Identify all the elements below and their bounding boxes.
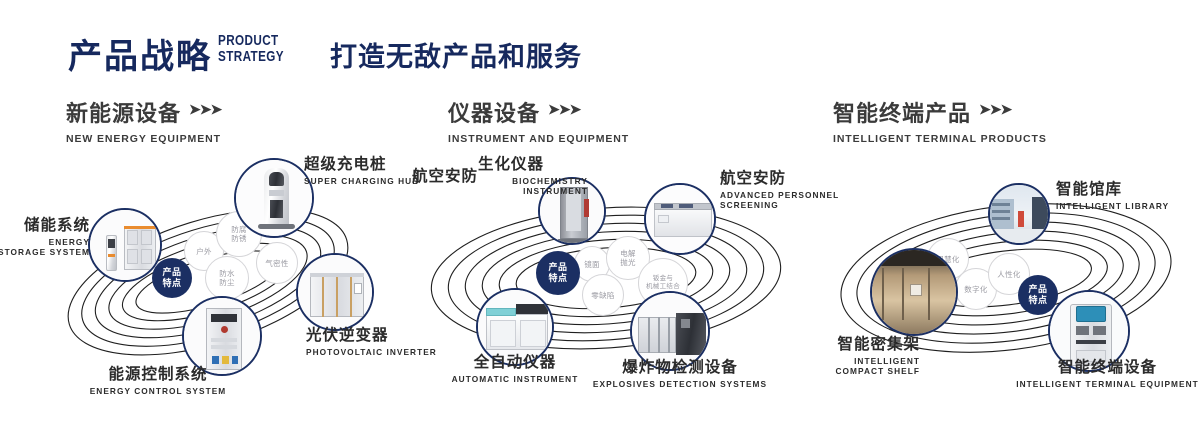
feature-bubble-label: 防水防尘 [219,269,235,287]
page-title: 产品战略 [68,29,212,78]
section-title-en: NEW ENERGY EQUIPMENT [66,133,221,145]
cluster-new-energy: 户外 防腐防锈 防水防尘 气密性 产品特点 [0,150,420,400]
node-photovoltaic-inverter[interactable] [296,253,374,331]
node-super-charging-hub[interactable] [234,158,314,238]
label-cn: 储能系统 [0,213,90,235]
section-title-cn: 仪器设备 [448,96,540,128]
page-title-en: PRODUCT STRATEGY [218,33,284,65]
label-cn: 生化仪器 [478,152,588,174]
section-heading-new-energy: 新能源设备➤➤➤ NEW ENERGY EQUIPMENT [66,96,221,145]
label-intelligent-library: 智能馆库 INTELLIGENT LIBRARY [1056,177,1200,211]
section-title-en: INTELLIGENT TERMINAL PRODUCTS [833,133,1047,145]
core-bubble-product-features: 产品特点 [536,251,580,295]
label-en: BIOCHEMISTRY INSTRUMENT [478,176,588,196]
label-intelligent-compact-shelf: 智能密集架 INTELLIGENT COMPACT SHELF [810,332,920,376]
node-intelligent-compact-shelf[interactable] [870,248,958,336]
node-intelligent-library[interactable] [988,183,1050,245]
section-title-cn: 智能终端产品 [833,96,971,128]
chevron-right-icon: ➤➤➤ [189,101,221,118]
section-heading-intelligent-terminal: 智能终端产品➤➤➤ INTELLIGENT TERMINAL PRODUCTS [833,96,1047,145]
feature-bubble-label: 气密性 [265,259,288,268]
cluster-instrument: 镜面 电解抛光 零缺陷 钣金与机械工结合 产品特点 [400,150,820,400]
label-en: ENERGY STORAGE SYSTEM [0,237,90,257]
cluster-intelligent-terminal: 智慧化 数字化 人性化 产品特点 [810,150,1200,400]
section-heading-instrument: 仪器设备➤➤➤ INSTRUMENT AND EQUIPMENT [448,96,629,145]
feature-bubble: 零缺陷 [582,274,624,316]
section-title-cn: 新能源设备 [66,96,181,128]
node-advanced-personnel-screening[interactable] [644,183,716,255]
page-title-en-line2: STRATEGY [218,49,284,65]
label-biochemistry-instrument: 生化仪器 BIOCHEMISTRY INSTRUMENT [478,152,588,196]
feature-bubble-label: 电解抛光 [620,249,636,267]
label-cn: 智能馆库 [1056,177,1200,199]
label-energy-control-system: 能源控制系统 ENERGY CONTROL SYSTEM [58,362,258,396]
core-bubble-label: 产品特点 [1028,284,1047,306]
feature-bubble-label: 镜面 [584,260,600,269]
feature-bubble: 气密性 [256,242,298,284]
chevron-right-icon: ➤➤➤ [548,101,580,118]
section-title-en: INSTRUMENT AND EQUIPMENT [448,133,629,145]
feature-bubble-label: 户外 [196,247,212,256]
label-en: ENERGY CONTROL SYSTEM [58,386,258,396]
label-en: EXPLOSIVES DETECTION SYSTEMS [580,379,780,389]
page-slogan: 打造无敌产品和服务 [330,35,582,74]
feature-bubble-label: 数字化 [964,285,987,294]
feature-bubble-label: 人性化 [997,270,1020,279]
label-energy-storage-system: 储能系统 ENERGY STORAGE SYSTEM [0,213,90,257]
label-cn: 航空安防 [388,164,478,186]
feature-bubble-label: 零缺陷 [591,291,614,300]
feature-bubble: 防水防尘 [205,256,249,300]
page-title-en-line1: PRODUCT [218,33,284,49]
label-cn: 爆炸物检测设备 [580,355,780,377]
label-en: AUTOMATIC INSTRUMENT [425,374,605,384]
core-bubble-label: 产品特点 [548,262,567,284]
label-explosives-detection: 爆炸物检测设备 EXPLOSIVES DETECTION SYSTEMS [580,355,780,389]
label-cn: 智能密集架 [810,332,920,354]
core-bubble-label: 产品特点 [162,267,181,289]
node-energy-storage-system[interactable] [88,208,162,282]
page-header: 产品战略 PRODUCT STRATEGY 打造无敌产品和服务 [0,0,1200,90]
label-en: INTELLIGENT TERMINAL EQUIPMENT [1015,379,1200,389]
label-en: INTELLIGENT COMPACT SHELF [810,356,920,376]
label-cn: 全自动仪器 [425,350,605,372]
label-intelligent-terminal-equipment: 智能终端设备 INTELLIGENT TERMINAL EQUIPMENT [1015,355,1200,389]
label-cn: 智能终端设备 [1015,355,1200,377]
chevron-right-icon: ➤➤➤ [979,101,1011,118]
label-en: INTELLIGENT LIBRARY [1056,201,1200,211]
feature-bubble-label: 钣金与机械工结合 [646,275,680,291]
label-automatic-instrument: 全自动仪器 AUTOMATIC INSTRUMENT [425,350,605,384]
label-cn: 能源控制系统 [58,362,258,384]
label-aviation-security: 航空安防 [388,164,478,186]
